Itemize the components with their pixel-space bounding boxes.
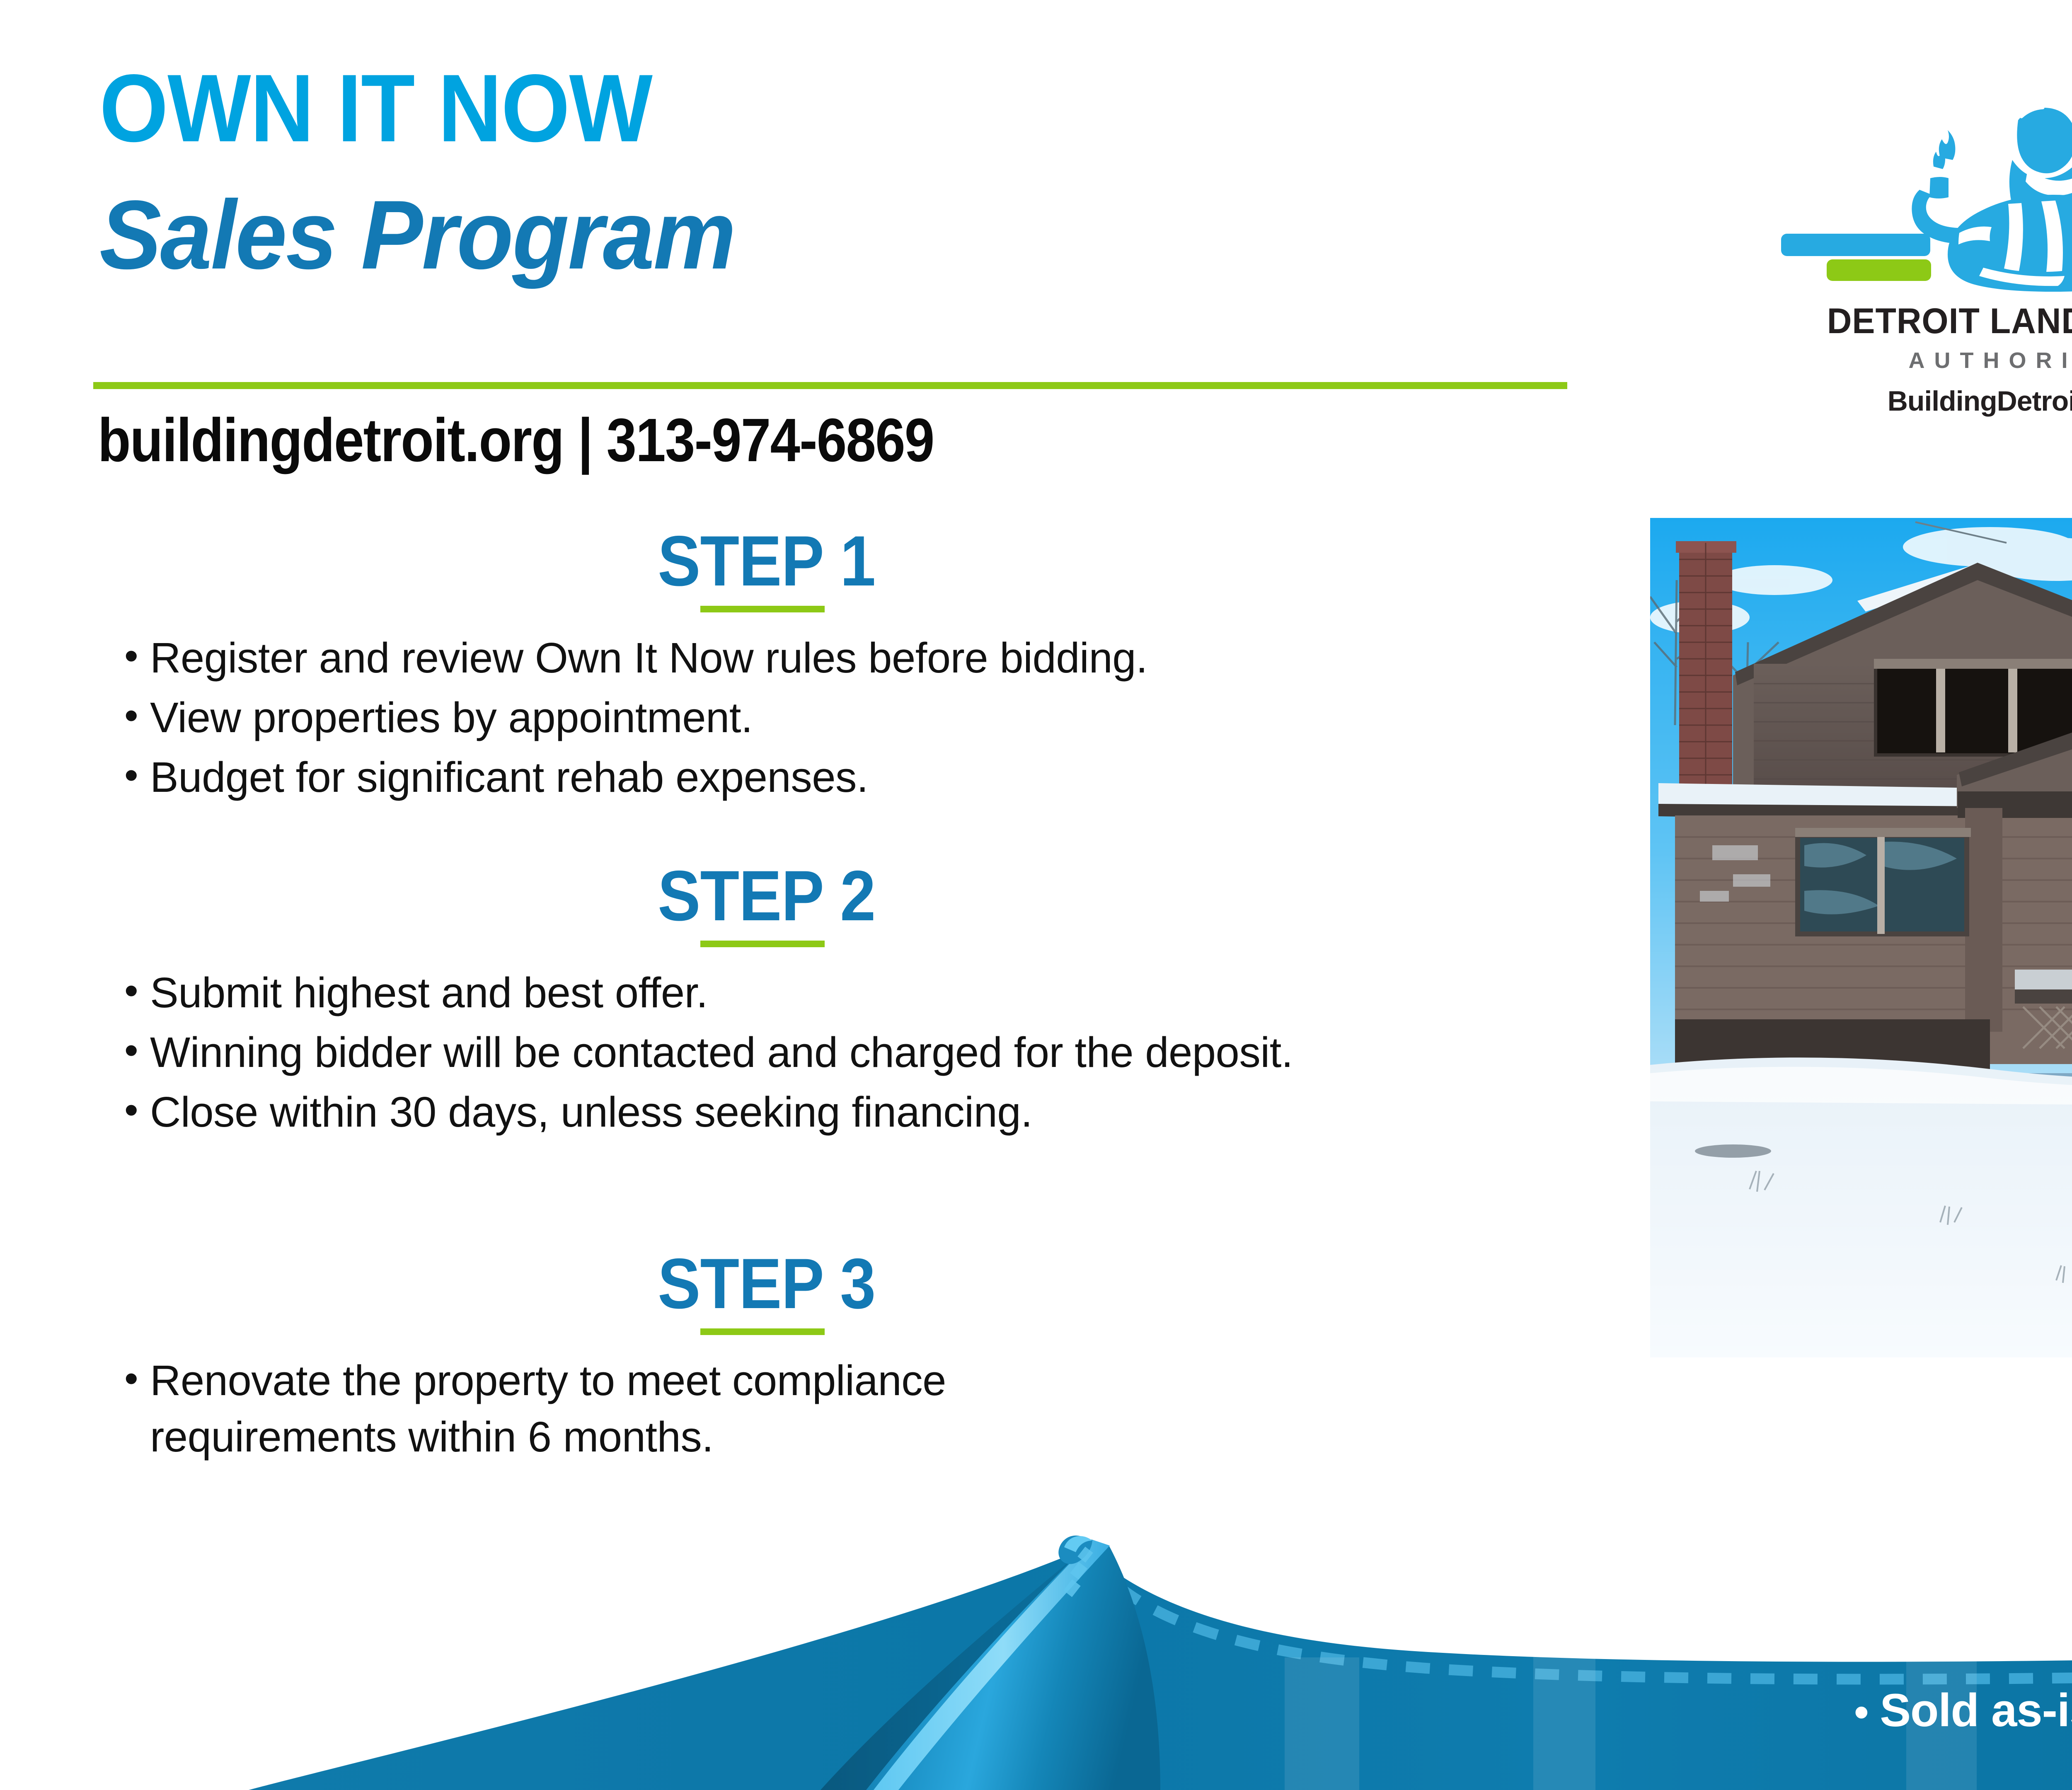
- step-heading-wrap-3: STEP 3: [0, 1248, 1533, 1319]
- list-item-text: Winning bidder will be contacted and cha…: [150, 1024, 1414, 1081]
- list-item: • Winning bidder will be contacted and c…: [124, 1024, 1533, 1081]
- logo-website-url: BuildingDetroit.org: [1753, 385, 2072, 417]
- list-item-text: Register and review Own It Now rules bef…: [150, 630, 1414, 686]
- list-item-text: Sold as-is, where-is: [1880, 1683, 2072, 1738]
- step-bullet-list-3: • Renovate the property to meet complian…: [0, 1352, 1533, 1465]
- step-underline-3: [0, 1328, 1533, 1335]
- logo-organization-name: DETROIT LAND BANK: [1763, 301, 2072, 342]
- list-item: • Sold as-is, where-is: [1854, 1683, 2072, 1738]
- bullet-glyph: •: [124, 965, 150, 1017]
- list-item: • Close within 30 days, unless seeking f…: [124, 1084, 1533, 1140]
- list-item-text: Close within 30 days, unless seeking fin…: [150, 1084, 1414, 1140]
- step-heading-wrap-1: STEP 1: [0, 525, 1533, 597]
- spirit-of-detroit-icon: [1753, 79, 2072, 298]
- step-block-3: STEP 3 • Renovate the property to meet c…: [0, 1248, 1533, 1468]
- step-heading-2: STEP 2: [658, 860, 875, 931]
- property-photo: [1650, 518, 2072, 1357]
- step-heading-3: STEP 3: [658, 1248, 875, 1319]
- bullet-glyph: •: [124, 1084, 150, 1137]
- step-heading-1: STEP 1: [658, 525, 875, 597]
- page-title-primary: OWN IT NOW: [99, 64, 652, 152]
- bullet-glyph: •: [124, 1352, 150, 1405]
- bullet-glyph: •: [1854, 1617, 1880, 1666]
- step-underline-2: [0, 941, 1533, 947]
- left-content-column: OWN IT NOW Sales Program buildingdetroit…: [0, 0, 1616, 1790]
- title-divider-rule: [93, 382, 1567, 389]
- bullet-glyph: •: [124, 1024, 150, 1077]
- logo-subtitle: AUTHORITY: [1753, 348, 2072, 373]
- list-item: • Register and review Own It Now rules b…: [124, 630, 1533, 686]
- list-item-text: Submit highest and best offer.: [150, 965, 1414, 1021]
- step-underline-1: [0, 606, 1533, 612]
- list-item: • View properties by appointment.: [124, 689, 1533, 746]
- step-heading-wrap-2: STEP 2: [0, 860, 1533, 931]
- bullet-glyph: •: [1854, 1688, 1880, 1737]
- banner-bullet-list: • Not move-in ready • Sold as-is, where-…: [1854, 1613, 2072, 1738]
- list-item: • Budget for significant rehab expenses.: [124, 749, 1533, 805]
- page-title-secondary: Sales Program: [99, 189, 735, 281]
- list-item-text: View properties by appointment.: [150, 689, 1414, 746]
- step-bullet-list-2: • Submit highest and best offer. • Winni…: [0, 965, 1533, 1140]
- list-item: • Submit highest and best offer.: [124, 965, 1533, 1021]
- bullet-glyph: •: [124, 749, 150, 802]
- step-bullet-list-1: • Register and review Own It Now rules b…: [0, 630, 1533, 805]
- detroit-land-bank-logo: DETROIT LAND BANK AUTHORITY BuildingDetr…: [1753, 79, 2072, 417]
- bullet-glyph: •: [124, 689, 150, 742]
- step-block-1: STEP 1 • Register and review Own It Now …: [0, 525, 1533, 809]
- list-item-text: Budget for significant rehab expenses.: [150, 749, 1414, 805]
- list-item: • Not move-in ready: [1854, 1613, 2072, 1667]
- bullet-glyph: •: [124, 630, 150, 682]
- list-item-text: Renovate the property to meet compliance…: [150, 1352, 1194, 1465]
- step-block-2: STEP 2 • Submit highest and best offer. …: [0, 860, 1533, 1144]
- contact-info: buildingdetroit.org | 313-974-6869: [98, 405, 934, 476]
- list-item-text: Not move-in ready: [1880, 1613, 2072, 1667]
- list-item: • Renovate the property to meet complian…: [124, 1352, 1533, 1465]
